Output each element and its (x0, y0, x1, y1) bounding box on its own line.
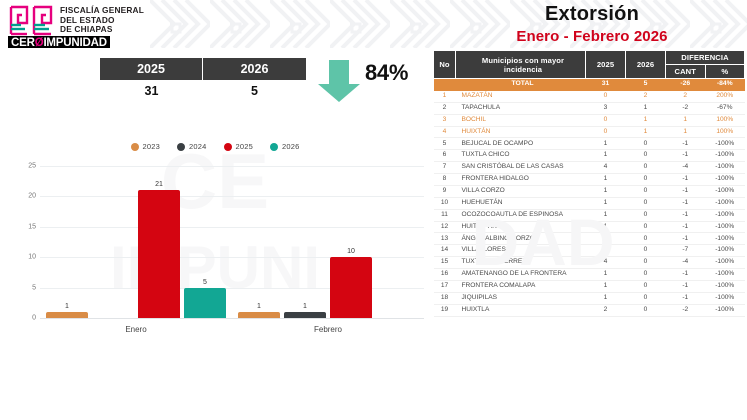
row-year-a: 1 (586, 197, 626, 209)
row-no: 2 (434, 102, 456, 114)
row-pct: -100% (705, 209, 745, 221)
row-no: 3 (434, 114, 456, 126)
row-pct: 100% (705, 126, 745, 138)
total-cell-1: TOTAL (456, 79, 586, 91)
row-year-b: 0 (626, 269, 666, 281)
row-year-b: 0 (626, 292, 666, 304)
legend-swatch-2024 (177, 143, 185, 151)
table-row[interactable]: 17FRONTERA COMALAPA10-1-100% (434, 280, 745, 292)
row-year-b: 0 (626, 162, 666, 174)
row-year-a: 3 (586, 102, 626, 114)
x-axis-line (40, 318, 424, 319)
row-year-a: 1 (586, 209, 626, 221)
chart-gridline (40, 196, 424, 197)
row-no: 15 (434, 257, 456, 269)
row-no: 19 (434, 304, 456, 316)
incidence-bar-chart: CE IMPUNI 2023202420252026 0510152025121… (0, 138, 430, 348)
row-pct: -100% (705, 257, 745, 269)
row-year-a: 1 (586, 150, 626, 162)
row-year-a: 1 (586, 174, 626, 186)
row-no: 5 (434, 138, 456, 150)
row-pct: -100% (705, 185, 745, 197)
legend-item-2023[interactable]: 2023 (131, 142, 161, 151)
row-no: 6 (434, 150, 456, 162)
row-cant: 1 (666, 126, 706, 138)
y-axis-tick: 5 (2, 284, 36, 291)
table-row[interactable]: 13ÁNGEL ALBINO CORZO10-1-100% (434, 233, 745, 245)
table-row[interactable]: 16AMATENANGO DE LA FRONTERA10-1-100% (434, 269, 745, 281)
row-pct: -100% (705, 292, 745, 304)
bar-value-2023-Enero: 1 (46, 303, 88, 310)
x-axis-category-Enero: Enero (40, 325, 232, 334)
total-cell-5: -84% (705, 79, 745, 91)
row-municipio: SAN CRISTÓBAL DE LAS CASAS (456, 162, 586, 174)
bar-value-2024-Febrero: 1 (284, 303, 326, 310)
row-year-a: 1 (586, 185, 626, 197)
row-no: 13 (434, 233, 456, 245)
bar-2023-Febrero[interactable] (238, 312, 280, 318)
row-year-b: 0 (626, 150, 666, 162)
legend-label-2023: 2023 (143, 142, 161, 151)
table-row[interactable]: 2TAPACHULA31-2-67% (434, 102, 745, 114)
bar-2026-Enero[interactable] (184, 288, 226, 318)
row-pct: -100% (705, 245, 745, 257)
legend-label-2026: 2026 (282, 142, 300, 151)
th-diferencia: DIFERENCIA (666, 51, 745, 65)
row-no: 8 (434, 174, 456, 186)
row-municipio: BEJUCAL DE OCAMPO (456, 138, 586, 150)
row-year-b: 0 (626, 209, 666, 221)
row-no: 1 (434, 90, 456, 102)
table-row[interactable]: 10HUEHUETÁN10-1-100% (434, 197, 745, 209)
row-municipio: TUXTLA CHICO (456, 150, 586, 162)
table-row[interactable]: 4HUIXTÁN011100% (434, 126, 745, 138)
total-cell-2: 31 (586, 79, 626, 91)
table-row[interactable]: 3BOCHIL011100% (434, 114, 745, 126)
row-no: 16 (434, 269, 456, 281)
row-no: 14 (434, 245, 456, 257)
row-municipio: HUIXTLA (456, 304, 586, 316)
fiscalia-logo: FISCALÍA GENERAL DEL ESTADO DE CHIAPAS (8, 4, 144, 37)
legend-swatch-2026 (270, 143, 278, 151)
row-year-b: 0 (626, 197, 666, 209)
row-year-b: 0 (626, 304, 666, 316)
row-year-b: 2 (626, 90, 666, 102)
row-no: 7 (434, 162, 456, 174)
row-cant: -1 (666, 269, 706, 281)
legend-label-2025: 2025 (236, 142, 254, 151)
row-cant: -1 (666, 221, 706, 233)
trend-percent-label: 84% (365, 60, 408, 86)
legend-item-2026[interactable]: 2026 (270, 142, 300, 151)
row-year-a: 4 (586, 162, 626, 174)
row-year-b: 0 (626, 280, 666, 292)
bar-value-2025-Enero: 21 (138, 181, 180, 188)
th-year-a: 2025 (586, 51, 626, 79)
table-row[interactable]: 7SAN CRISTÓBAL DE LAS CASAS40-4-100% (434, 162, 745, 174)
org-line-3: DE CHIAPAS (60, 25, 144, 35)
slogan-impunidad: IMPUNIDAD (43, 37, 106, 48)
chart-gridline (40, 166, 424, 167)
compare-box-year-a: 2025 (100, 58, 203, 80)
row-pct: -100% (705, 304, 745, 316)
row-year-a: 1 (586, 221, 626, 233)
legend-label-2024: 2024 (189, 142, 207, 151)
table-row[interactable]: 8FRONTERA HIDALGO10-1-100% (434, 174, 745, 186)
page-title: Extorsión (437, 3, 747, 26)
row-year-a: 0 (586, 114, 626, 126)
row-year-a: 4 (586, 257, 626, 269)
row-municipio: HUITIUPÁN (456, 221, 586, 233)
row-municipio: TUXTLA GUTIÉRREZ (456, 257, 586, 269)
row-year-b: 0 (626, 138, 666, 150)
chart-plot-area: 05101520251215Enero1110Febrero (0, 156, 430, 346)
row-cant: -2 (666, 304, 706, 316)
row-year-b: 1 (626, 102, 666, 114)
slogan-cero: CER (11, 37, 35, 48)
th-year-b: 2026 (626, 51, 666, 79)
row-pct: -100% (705, 150, 745, 162)
y-axis-tick: 20 (2, 193, 36, 200)
municipios-table-wrap: DAD No Municipios con mayor incidencia 2… (433, 50, 745, 317)
compare-value-year-b: 5 (203, 84, 306, 98)
compare-value-year-a: 31 (100, 84, 203, 98)
row-no: 10 (434, 197, 456, 209)
row-pct: -100% (705, 233, 745, 245)
table-row[interactable]: 9VILLA CORZO10-1-100% (434, 185, 745, 197)
bar-value-2023-Febrero: 1 (238, 303, 280, 310)
row-municipio: FRONTERA COMALAPA (456, 280, 586, 292)
table-row[interactable]: 5BEJUCAL DE OCAMPO10-1-100% (434, 138, 745, 150)
row-year-b: 0 (626, 257, 666, 269)
row-no: 17 (434, 280, 456, 292)
row-pct: -100% (705, 221, 745, 233)
page-subtitle: Enero - Febrero 2026 (437, 28, 747, 45)
header-band: FISCALÍA GENERAL DEL ESTADO DE CHIAPAS C… (0, 0, 747, 48)
row-no: 12 (434, 221, 456, 233)
row-cant: -1 (666, 138, 706, 150)
th-cant: CANT (666, 65, 706, 79)
row-year-a: 1 (586, 280, 626, 292)
row-year-b: 0 (626, 233, 666, 245)
table-row[interactable]: 12HUITIUPÁN10-1-100% (434, 221, 745, 233)
th-no: No (434, 51, 456, 79)
slogan-text: CERØIMPUNIDAD (8, 36, 110, 48)
bar-value-2025-Febrero: 10 (330, 248, 372, 255)
bar-2024-Febrero[interactable] (284, 312, 326, 318)
table-row[interactable]: 19HUIXTLA20-2-100% (434, 304, 745, 316)
row-no: 4 (434, 126, 456, 138)
row-pct: 200% (705, 90, 745, 102)
row-pct: -100% (705, 269, 745, 281)
greca-mayan-icon (8, 4, 54, 37)
row-year-a: 2 (586, 304, 626, 316)
row-year-a: 0 (586, 126, 626, 138)
row-year-a: 1 (586, 269, 626, 281)
legend-item-2024[interactable]: 2024 (177, 142, 207, 151)
row-municipio: VILLAFLORES (456, 245, 586, 257)
row-municipio: VILLA CORZO (456, 185, 586, 197)
row-cant: -7 (666, 245, 706, 257)
row-pct: -100% (705, 162, 745, 174)
row-no: 9 (434, 185, 456, 197)
row-year-b: 1 (626, 114, 666, 126)
row-no: 11 (434, 209, 456, 221)
row-cant: -2 (666, 102, 706, 114)
y-axis-tick: 25 (2, 163, 36, 170)
row-year-a: 7 (586, 245, 626, 257)
municipios-table: No Municipios con mayor incidencia 2025 … (433, 50, 745, 317)
row-pct: -100% (705, 174, 745, 186)
bar-2025-Enero[interactable] (138, 190, 180, 318)
row-municipio: OCOZOCOAUTLA DE ESPINOSA (456, 209, 586, 221)
table-head: No Municipios con mayor incidencia 2025 … (434, 51, 745, 79)
row-year-b: 0 (626, 221, 666, 233)
table-row[interactable]: 1MAZATÁN022200% (434, 90, 745, 102)
row-cant: -1 (666, 233, 706, 245)
y-axis-tick: 15 (2, 223, 36, 230)
row-pct: -100% (705, 280, 745, 292)
row-cant: -1 (666, 174, 706, 186)
row-cant: -1 (666, 197, 706, 209)
bar-2023-Enero[interactable] (46, 312, 88, 318)
row-municipio: HUEHUETÁN (456, 197, 586, 209)
table-total-row: TOTAL315-26-84% (434, 79, 745, 91)
bar-value-2026-Enero: 5 (184, 279, 226, 286)
cero-impunidad-slogan: CERØIMPUNIDAD (8, 36, 110, 48)
row-cant: 2 (666, 90, 706, 102)
table-row[interactable]: 18JIQUIPILAS10-1-100% (434, 292, 745, 304)
row-cant: -1 (666, 150, 706, 162)
table-row[interactable]: 14VILLAFLORES70-7-100% (434, 245, 745, 257)
row-no: 18 (434, 292, 456, 304)
y-axis-tick: 0 (2, 315, 36, 322)
total-cell-3: 5 (626, 79, 666, 91)
row-year-a: 0 (586, 90, 626, 102)
row-cant: -1 (666, 209, 706, 221)
row-pct: 100% (705, 114, 745, 126)
slide-root: FISCALÍA GENERAL DEL ESTADO DE CHIAPAS C… (0, 0, 747, 420)
arrow-down-icon (315, 56, 363, 104)
row-year-b: 0 (626, 185, 666, 197)
x-axis-category-Febrero: Febrero (232, 325, 424, 334)
row-municipio: FRONTERA HIDALGO (456, 174, 586, 186)
row-municipio: JIQUIPILAS (456, 292, 586, 304)
row-cant: -1 (666, 292, 706, 304)
row-cant: -4 (666, 257, 706, 269)
row-municipio: AMATENANGO DE LA FRONTERA (456, 269, 586, 281)
legend-swatch-2023 (131, 143, 139, 151)
th-municipios: Municipios con mayor incidencia (456, 51, 586, 79)
table-row[interactable]: 15TUXTLA GUTIÉRREZ40-4-100% (434, 257, 745, 269)
table-header-row: No Municipios con mayor incidencia 2025 … (434, 51, 745, 65)
row-pct: -100% (705, 138, 745, 150)
row-cant: -1 (666, 185, 706, 197)
row-pct: -67% (705, 102, 745, 114)
row-cant: 1 (666, 114, 706, 126)
row-municipio: TAPACHULA (456, 102, 586, 114)
row-municipio: MAZATÁN (456, 90, 586, 102)
row-year-a: 1 (586, 233, 626, 245)
row-municipio: BOCHIL (456, 114, 586, 126)
compare-box-year-b: 2026 (203, 58, 306, 80)
y-axis-tick: 10 (2, 254, 36, 261)
row-year-b: 0 (626, 245, 666, 257)
row-municipio: ÁNGEL ALBINO CORZO (456, 233, 586, 245)
bar-2025-Febrero[interactable] (330, 257, 372, 318)
legend-swatch-2025 (224, 143, 232, 151)
table-body: TOTAL315-26-84%1MAZATÁN022200%2TAPACHULA… (434, 79, 745, 317)
row-year-a: 1 (586, 292, 626, 304)
row-cant: -1 (666, 280, 706, 292)
row-year-b: 1 (626, 126, 666, 138)
row-cant: -4 (666, 162, 706, 174)
chart-gridline (40, 227, 424, 228)
table-row[interactable]: 6TUXTLA CHICO10-1-100% (434, 150, 745, 162)
row-pct: -100% (705, 197, 745, 209)
th-pct: % (705, 65, 745, 79)
total-cell-4: -26 (666, 79, 706, 91)
chart-legend: 2023202420252026 (0, 142, 430, 151)
legend-item-2025[interactable]: 2025 (224, 142, 254, 151)
row-municipio: HUIXTÁN (456, 126, 586, 138)
total-cell-0 (434, 79, 456, 91)
row-year-b: 0 (626, 174, 666, 186)
row-year-a: 1 (586, 138, 626, 150)
table-row[interactable]: 11OCOZOCOAUTLA DE ESPINOSA10-1-100% (434, 209, 745, 221)
